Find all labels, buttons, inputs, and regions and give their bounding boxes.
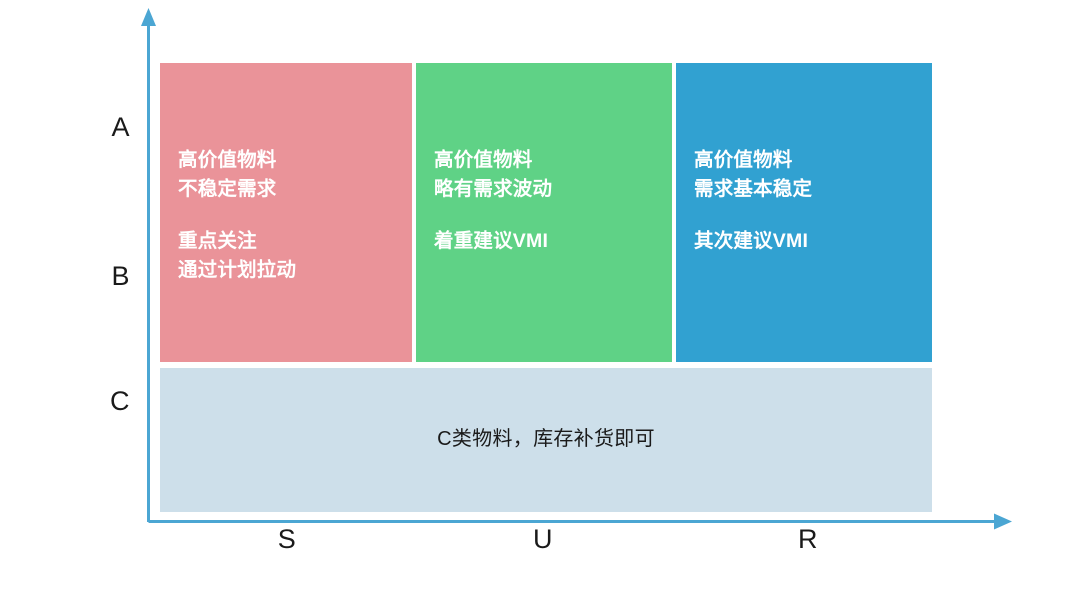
quadrant-ab-u-action: 着重建议VMI bbox=[434, 227, 548, 256]
x-axis-tick-u: U bbox=[513, 526, 573, 553]
band-c[interactable]: C类物料，库存补货即可 bbox=[160, 368, 932, 512]
y-axis-tick-c: C bbox=[96, 388, 130, 415]
right-arrow-icon bbox=[994, 514, 1012, 530]
quadrant-ab-r[interactable]: 高价值物料 需求基本稳定 其次建议VMI bbox=[676, 63, 932, 362]
quadrant-ab-u[interactable]: 高价值物料 略有需求波动 着重建议VMI bbox=[416, 63, 672, 362]
quadrant-ab-s[interactable]: 高价值物料 不稳定需求 重点关注 通过计划拉动 bbox=[160, 63, 412, 362]
matrix-diagram-canvas: A B C S U R 高价值物料 不稳定需求 重点关注 通过计划拉动 高价值物… bbox=[0, 0, 1080, 594]
y-axis-tick-b: B bbox=[96, 263, 130, 290]
quadrant-ab-s-description: 高价值物料 不稳定需求 bbox=[178, 146, 277, 204]
x-axis-tick-s: S bbox=[257, 526, 317, 553]
x-axis-tick-r: R bbox=[778, 526, 838, 553]
quadrant-ab-r-action: 其次建议VMI bbox=[694, 227, 808, 256]
y-axis-tick-a: A bbox=[96, 114, 130, 141]
quadrant-ab-u-description: 高价值物料 略有需求波动 bbox=[434, 146, 552, 204]
up-arrow-icon bbox=[141, 8, 156, 26]
band-c-label: C类物料，库存补货即可 bbox=[160, 429, 932, 449]
quadrant-ab-r-description: 高价值物料 需求基本稳定 bbox=[694, 146, 812, 204]
quadrant-ab-s-action: 重点关注 通过计划拉动 bbox=[178, 227, 296, 285]
